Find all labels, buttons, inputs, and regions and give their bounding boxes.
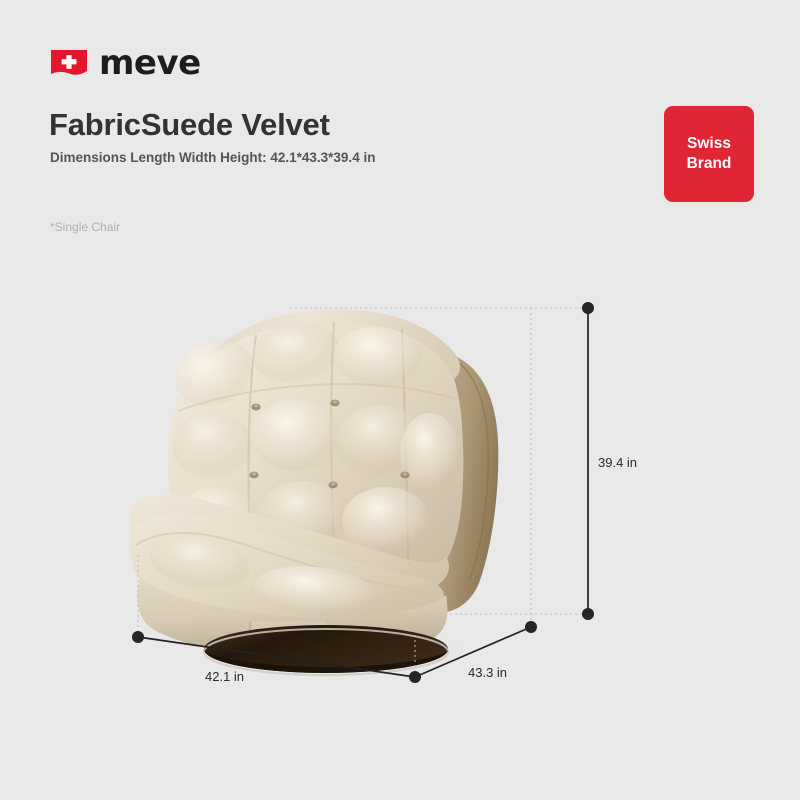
- swivel-base: [204, 625, 448, 675]
- page-title: FabricSuede Velvet: [49, 107, 330, 143]
- product-dimension-card: meve FabricSuede Velvet Dimensions Lengt…: [0, 0, 800, 800]
- length-dimension-label: 42.1 in: [205, 669, 244, 684]
- swiss-brand-badge-line2: Brand: [687, 154, 732, 174]
- swiss-brand-badge-line1: Swiss: [687, 134, 732, 154]
- height-dimension-label: 39.4 in: [598, 455, 637, 470]
- brand-header: meve: [50, 46, 201, 80]
- dimensions-subtitle: Dimensions Length Width Height: 42.1*43.…: [50, 150, 375, 165]
- depth-dimension-label: 43.3 in: [468, 665, 507, 680]
- product-stage: 42.1 in 43.3 in 39.4 in: [0, 250, 800, 730]
- brand-wordmark: meve: [99, 46, 201, 80]
- swiss-brand-badge: Swiss Brand: [664, 106, 754, 202]
- chair-product-image: [130, 295, 550, 680]
- swiss-flag-icon: [50, 48, 88, 78]
- single-chair-note: *Single Chair: [50, 220, 120, 234]
